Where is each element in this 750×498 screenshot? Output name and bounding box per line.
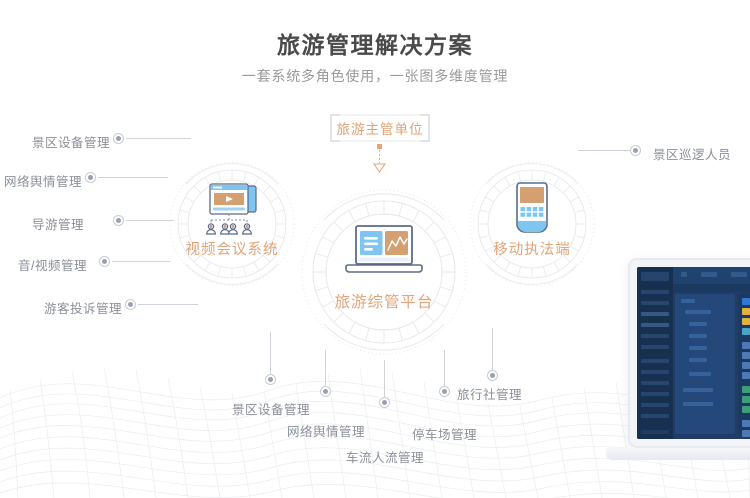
bottom-label-dot-0[interactable] bbox=[265, 374, 276, 385]
dashboard-subbar bbox=[673, 284, 750, 292]
dashboard-menu-item bbox=[641, 370, 669, 374]
left-label-dot-1[interactable] bbox=[85, 172, 96, 183]
dashboard-menu-item bbox=[641, 403, 669, 407]
dashboard-tree-panel bbox=[675, 294, 735, 434]
page-title: 旅游管理解决方案 bbox=[0, 26, 750, 60]
bottom-label-0[interactable]: 景区设备管理 bbox=[232, 399, 310, 418]
left-label-dot-4[interactable] bbox=[125, 299, 136, 310]
dashboard-icon-cell bbox=[742, 372, 750, 379]
left-label-dot-2[interactable] bbox=[113, 215, 124, 226]
laptop-base bbox=[606, 448, 750, 460]
bottom-lead-line-1 bbox=[325, 350, 326, 386]
dashboard-icon-cell bbox=[742, 308, 750, 315]
mobile-device-icon bbox=[509, 180, 555, 236]
dashboard-menu-item bbox=[641, 334, 669, 338]
dashboard-tab bbox=[681, 272, 687, 277]
dashboard-topbar bbox=[673, 267, 750, 284]
bottom-label-2[interactable]: 车流人流管理 bbox=[346, 447, 424, 466]
dashboard-tree-row bbox=[689, 334, 707, 338]
bottom-lead-line-3 bbox=[444, 350, 445, 386]
dashboard-menu-item bbox=[641, 312, 669, 316]
bottom-label-dot-3[interactable] bbox=[439, 386, 450, 397]
dashboard-screenshot bbox=[637, 267, 750, 439]
left-label-dot-3[interactable] bbox=[99, 256, 110, 267]
bottom-label-dot-2[interactable] bbox=[379, 397, 390, 408]
left-lead-line-3 bbox=[112, 261, 170, 262]
dashboard-menu-item bbox=[641, 323, 669, 327]
dashboard-menu-item bbox=[641, 392, 669, 396]
left-label-0[interactable]: 景区设备管理 bbox=[32, 132, 110, 151]
left-label-4[interactable]: 游客投诉管理 bbox=[44, 298, 122, 317]
dashboard-menu-item bbox=[641, 359, 669, 363]
dashboard-icon-cell bbox=[742, 386, 750, 393]
dashboard-sidebar bbox=[637, 267, 673, 439]
dashboard-icon-cell bbox=[742, 362, 750, 369]
dashboard-icon-cell bbox=[742, 430, 750, 437]
dashboard-tree-row bbox=[689, 346, 707, 350]
dashboard-icon-cell bbox=[742, 328, 750, 335]
dashboard-icon-cell bbox=[742, 352, 750, 359]
dashboard-menu-item bbox=[641, 381, 669, 385]
dashboard-menu-item bbox=[641, 345, 669, 349]
dashboard-icon-cell bbox=[742, 298, 750, 305]
node-tourism-platform[interactable]: 旅游综管平台 bbox=[300, 188, 468, 356]
dashboard-tree-row bbox=[681, 299, 695, 303]
dashboard-tree-row bbox=[683, 402, 713, 406]
dashboard-menu-item bbox=[641, 414, 669, 418]
dashboard-tree-row bbox=[685, 310, 711, 314]
left-label-3[interactable]: 音/视频管理 bbox=[18, 255, 87, 274]
page-subtitle: 一套系统多角色使用，一张图多维度管理 bbox=[0, 66, 750, 86]
dashboard-menu-item bbox=[641, 290, 669, 294]
left-label-2[interactable]: 导游管理 bbox=[32, 214, 84, 233]
video-conference-icon bbox=[198, 182, 266, 238]
dashboard-footer-note bbox=[641, 430, 669, 434]
left-label-dot-0[interactable] bbox=[113, 133, 124, 144]
dashboard-icon-cell bbox=[742, 318, 750, 325]
dashboard-icon-panel bbox=[738, 294, 750, 434]
authority-box[interactable]: 旅游主管单位 bbox=[330, 114, 430, 142]
dashboard-icon-cell bbox=[742, 420, 750, 427]
left-label-1[interactable]: 网络舆情管理 bbox=[4, 171, 82, 190]
bottom-label-4[interactable]: 旅行社管理 bbox=[457, 384, 522, 403]
bottom-label-1[interactable]: 网络舆情管理 bbox=[287, 421, 365, 440]
dashboard-menu-item bbox=[641, 301, 669, 305]
dashboard-tree-row bbox=[689, 372, 711, 376]
dashboard-logo bbox=[641, 272, 669, 281]
left-lead-line-0 bbox=[126, 138, 191, 139]
dashboard-icon-cell bbox=[742, 396, 750, 403]
dashboard-icon-cell bbox=[742, 342, 750, 349]
dashboard-icon-cell bbox=[742, 406, 750, 413]
dashboard-tree-row bbox=[689, 358, 707, 362]
dashboard-tab bbox=[701, 272, 717, 277]
node-label-video-conference: 视频会议系统 bbox=[168, 238, 296, 259]
authority-label: 旅游主管单位 bbox=[337, 118, 424, 138]
left-lead-line-4 bbox=[138, 304, 198, 305]
bottom-label-3[interactable]: 停车场管理 bbox=[412, 424, 477, 443]
dashboard-tab bbox=[731, 272, 747, 277]
node-video-conference[interactable]: 视频会议系统 bbox=[168, 160, 296, 288]
right-label-dot-0[interactable] bbox=[630, 145, 641, 156]
authority-arrow-connector bbox=[362, 143, 398, 177]
bottom-lead-line-4 bbox=[492, 328, 493, 370]
node-mobile-enforcement[interactable]: 移动执法端 bbox=[468, 160, 596, 288]
right-lead-line-0 bbox=[578, 150, 630, 151]
laptop-platform-icon bbox=[343, 224, 425, 280]
bottom-lead-line-0 bbox=[270, 332, 271, 374]
solution-diagram-page: 旅游管理解决方案 一套系统多角色使用，一张图多维度管理 旅游主管单位 bbox=[0, 0, 750, 498]
node-label-mobile-enforcement: 移动执法端 bbox=[468, 238, 596, 259]
bottom-label-dot-1[interactable] bbox=[320, 386, 331, 397]
left-lead-line-1 bbox=[98, 177, 168, 178]
bottom-label-dot-4[interactable] bbox=[487, 370, 498, 381]
laptop-mockup bbox=[628, 258, 750, 498]
dashboard-tree-row bbox=[689, 322, 707, 326]
left-lead-line-2 bbox=[126, 220, 174, 221]
bottom-lead-line-2 bbox=[384, 360, 385, 397]
node-label-tourism-platform: 旅游综管平台 bbox=[300, 290, 468, 312]
right-label-0[interactable]: 景区巡逻人员 bbox=[653, 144, 731, 163]
dashboard-tree-row bbox=[683, 388, 713, 392]
